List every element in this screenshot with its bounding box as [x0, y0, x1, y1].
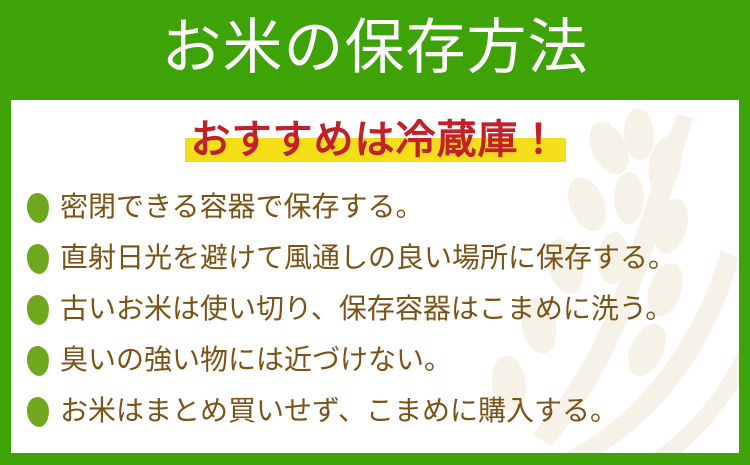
rice-storage-infographic: お米の保存方法	[0, 0, 750, 465]
list-item: 直射日光を避けて風通しの良い場所に保存する。	[27, 233, 727, 284]
rice-grain-bullet-icon	[26, 192, 50, 223]
storage-tips-list: 密閉できる容器で保存する。 直射日光を避けて風通しの良い場所に保存する。 古いお…	[27, 182, 727, 437]
list-item: お米はまとめ買いせず、こまめに購入する。	[27, 386, 727, 437]
header-banner: お米の保存方法	[0, 0, 750, 100]
list-item-label: 密閉できる容器で保存する。	[60, 192, 423, 223]
list-item: 密閉できる容器で保存する。	[27, 182, 727, 233]
rice-grain-bullet-icon	[26, 243, 50, 274]
list-item-label: 臭いの強い物には近づけない。	[60, 345, 452, 376]
list-item: 臭いの強い物には近づけない。	[27, 335, 727, 386]
rice-grain-bullet-icon	[26, 345, 50, 376]
list-item-label: お米はまとめ買いせず、こまめに購入する。	[60, 396, 618, 427]
subtitle-inner: おすすめは冷蔵庫！	[185, 116, 566, 164]
page-title: お米の保存方法	[162, 18, 589, 82]
list-item: 古いお米は使い切り、保存容器はこまめに洗う。	[27, 284, 727, 335]
subtitle-text: おすすめは冷蔵庫！	[191, 118, 560, 162]
rice-grain-bullet-icon	[26, 396, 50, 427]
content-card: おすすめは冷蔵庫！ 密閉できる容器で保存する。 直射日光を避けて風通しの良い場所…	[11, 100, 739, 453]
list-item-label: 直射日光を避けて風通しの良い場所に保存する。	[60, 243, 676, 274]
subtitle-block: おすすめは冷蔵庫！	[11, 106, 739, 174]
rice-grain-bullet-icon	[26, 294, 50, 325]
list-item-label: 古いお米は使い切り、保存容器はこまめに洗う。	[60, 294, 673, 325]
